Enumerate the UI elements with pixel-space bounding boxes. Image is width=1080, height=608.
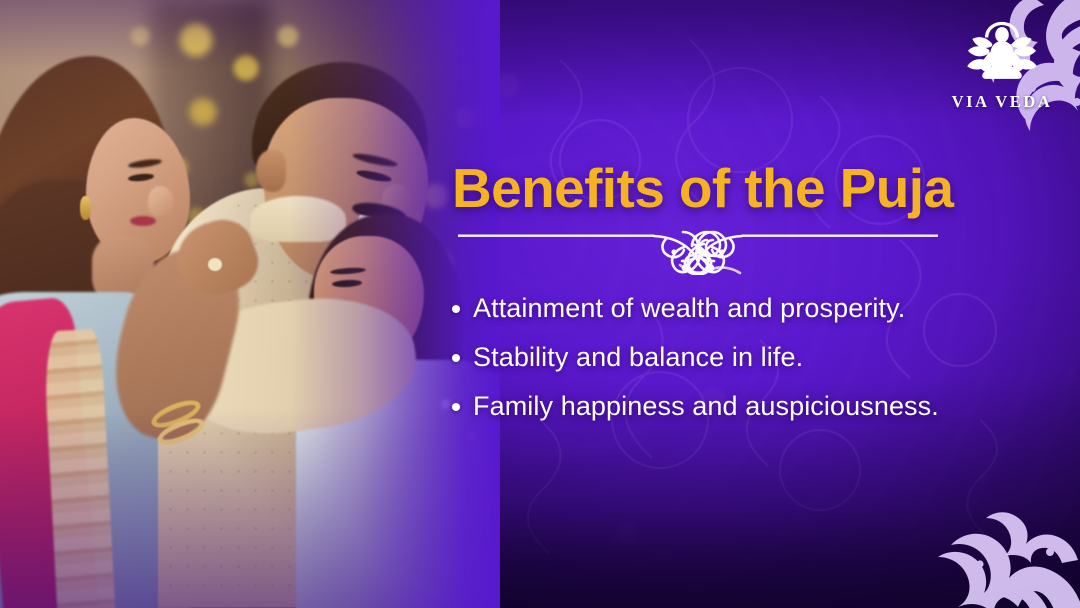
benefits-content: Benefits of the Puja — [452, 160, 1052, 424]
brand-logo[interactable]: VIA VEDA — [946, 16, 1058, 112]
benefit-text: Stability and balance in life. — [473, 340, 803, 375]
benefit-list-item: Stability and balance in life. — [452, 340, 1052, 375]
bullet-dot-icon — [452, 305, 460, 313]
family-photo — [0, 0, 500, 608]
photo-right-feather-fade — [0, 0, 500, 608]
benefit-text: Attainment of wealth and prosperity. — [473, 291, 905, 326]
benefit-list-item: Family happiness and auspiciousness. — [452, 389, 1052, 424]
bullet-dot-icon — [452, 354, 460, 362]
meditating-lotus-figure-icon — [965, 16, 1039, 90]
damask-flourish-ornament-icon — [924, 456, 1080, 608]
bullet-dot-icon — [452, 403, 460, 411]
ornamental-scroll-divider-icon — [452, 227, 944, 275]
brand-wordmark: VIA VEDA — [952, 92, 1053, 112]
benefit-list-item: Attainment of wealth and prosperity. — [452, 291, 1052, 326]
benefits-list: Attainment of wealth and prosperity.Stab… — [452, 291, 1052, 424]
benefit-text: Family happiness and auspiciousness. — [473, 389, 939, 424]
page-title: Benefits of the Puja — [452, 160, 1052, 217]
puja-benefits-banner: VIA VEDA Benefits of the Puja — [0, 0, 1080, 608]
